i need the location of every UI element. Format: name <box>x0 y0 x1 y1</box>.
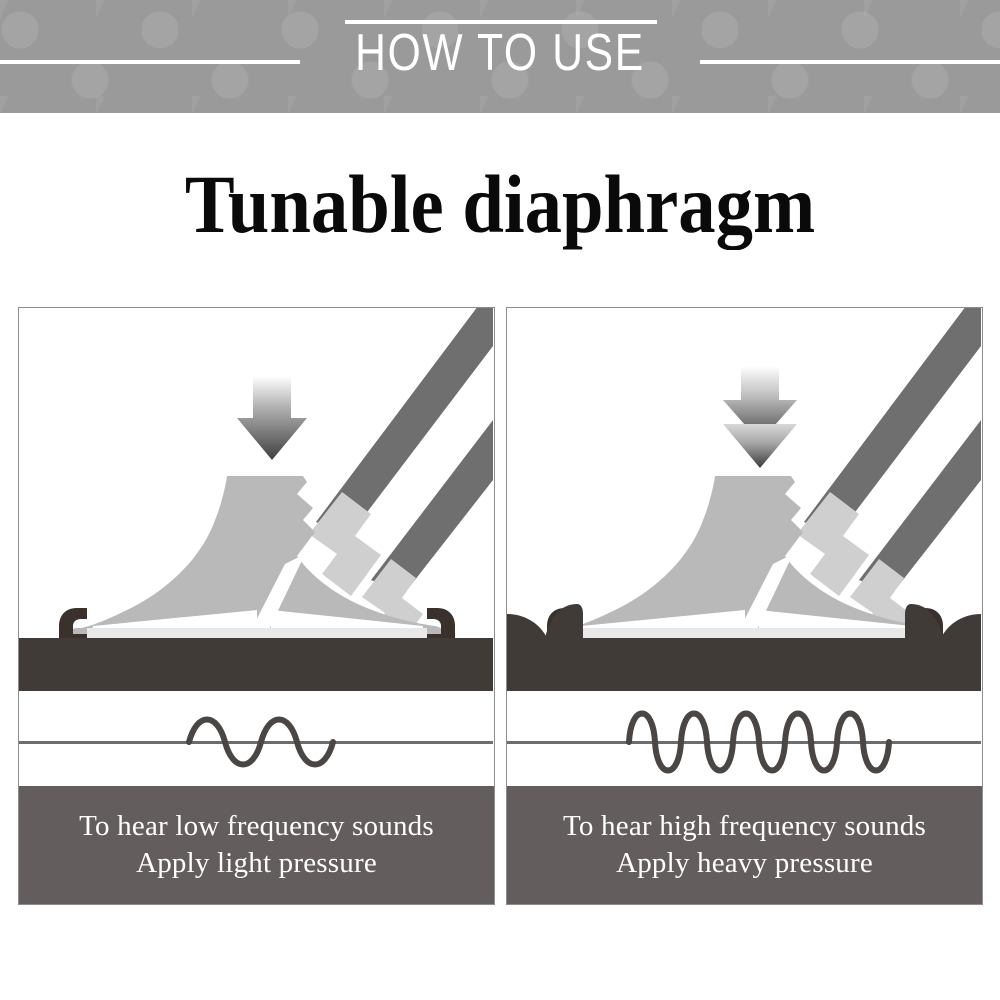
chestpiece-diaphragm-membrane <box>87 628 427 638</box>
caption-low-frequency: To hear low frequency sounds Apply light… <box>19 786 494 904</box>
panel-high-frequency: To hear high frequency sounds Apply heav… <box>506 307 983 905</box>
tissue-boundary-line <box>507 691 981 788</box>
diagram-panels: To hear low frequency sounds Apply light… <box>0 307 1000 907</box>
panel-low-frequency-illustration <box>19 308 494 788</box>
skin-layer-flat <box>19 638 493 691</box>
caption-high-frequency: To hear high frequency sounds Apply heav… <box>507 786 982 904</box>
chestpiece-diaphragm-membrane <box>575 628 915 638</box>
caption-line-2: Apply light pressure <box>136 845 377 882</box>
panel-high-frequency-illustration <box>507 308 982 788</box>
page-title: Tunable diaphragm <box>50 163 950 246</box>
caption-line-2: Apply heavy pressure <box>616 845 873 882</box>
down-arrow-single-icon <box>237 376 307 460</box>
down-arrow-double-icon <box>723 366 797 468</box>
caption-line-1: To hear low frequency sounds <box>79 808 434 845</box>
panel-low-frequency: To hear low frequency sounds Apply light… <box>18 307 495 905</box>
tissue-boundary-line <box>19 691 493 788</box>
caption-line-1: To hear high frequency sounds <box>563 808 926 845</box>
how-to-use-banner: HOW TO USE <box>0 0 1000 113</box>
banner-title: HOW TO USE <box>90 27 910 79</box>
